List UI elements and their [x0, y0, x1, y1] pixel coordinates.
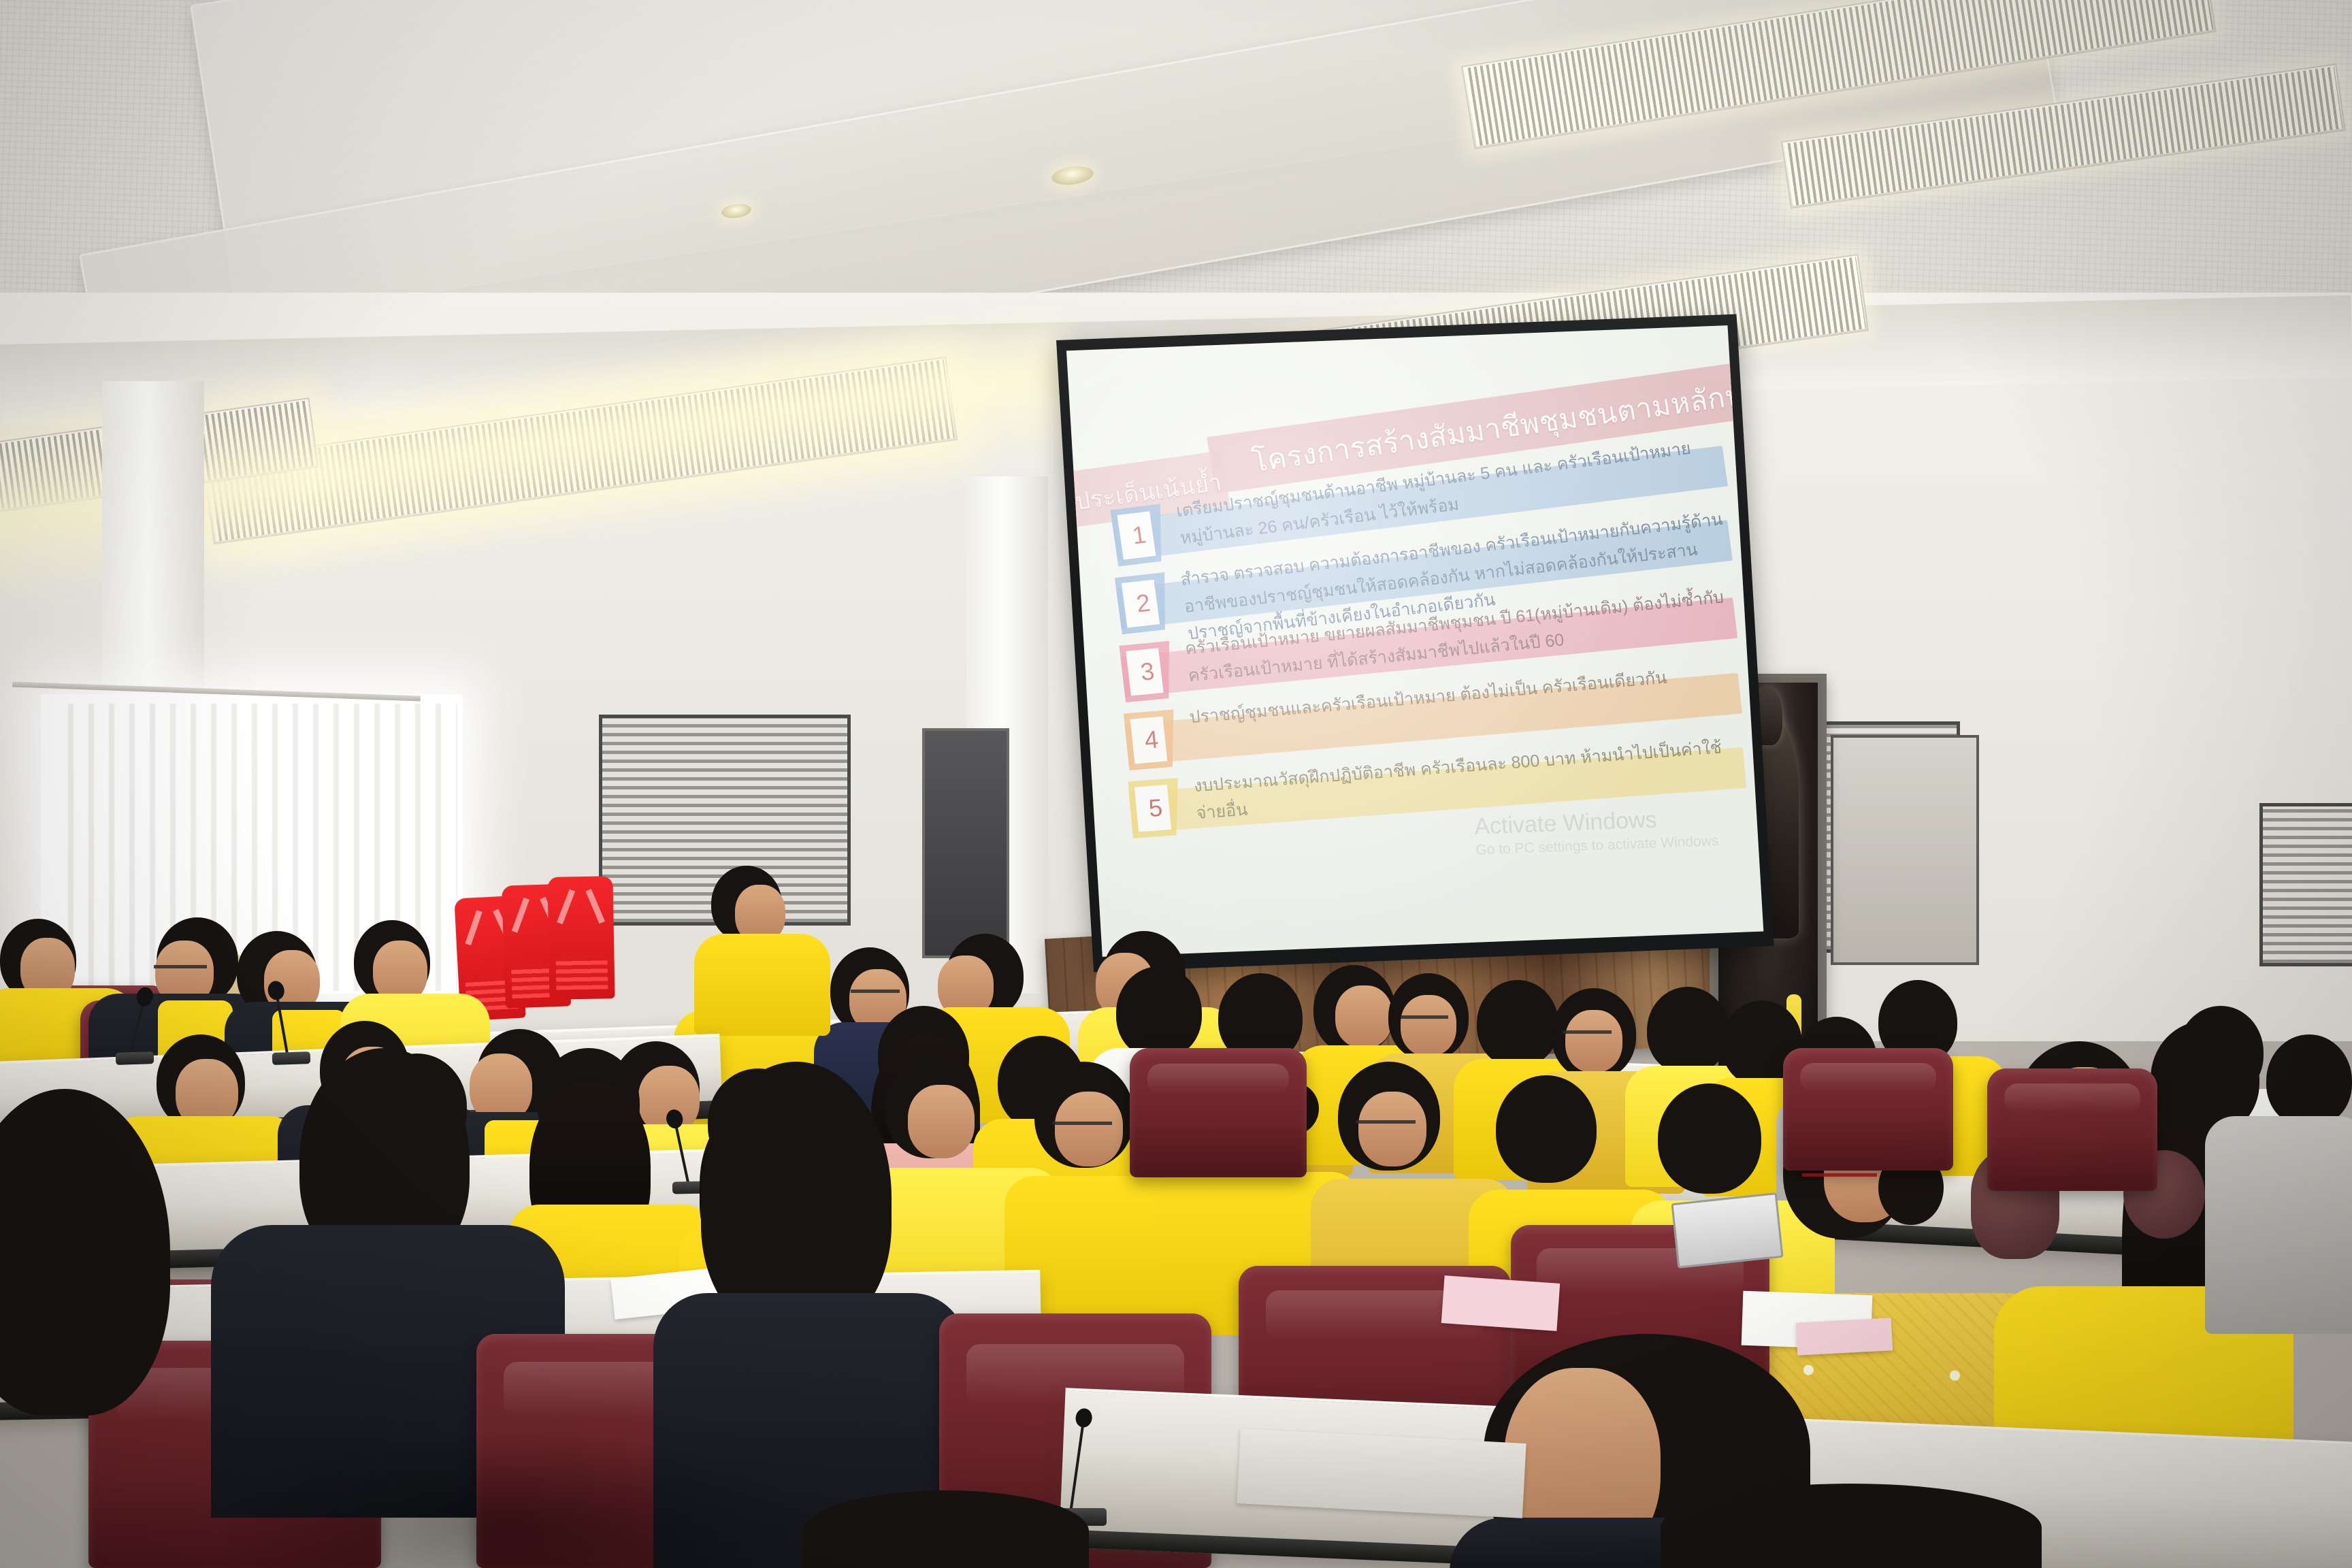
- projection-screen: ประเด็นเน้นย้ำ โครงการสร้างสัมมาชีพชุมชน…: [1056, 314, 1774, 973]
- windows-activation-watermark: Activate Windows Go to PC settings to ac…: [1473, 804, 1719, 861]
- slide-bullet-list: 1 เตรียมปราชญ์ชุมชนด้านอาชีพ หมู่บ้านละ …: [1113, 486, 1759, 849]
- conference-room-photo: ประเด็นเน้นย้ำ โครงการสร้างสัมมาชีพชุมชน…: [0, 0, 2352, 1568]
- attendee-head: [1647, 987, 1729, 1074]
- conference-chair: [1783, 1048, 1953, 1171]
- eyeglasses-icon: [1401, 1015, 1448, 1026]
- microphone-base: [116, 1051, 154, 1065]
- slide-item-number-badge: 4: [1124, 709, 1179, 770]
- pink-document: [1441, 1275, 1560, 1331]
- eyeglasses-icon: [1802, 1173, 1877, 1183]
- eyeglasses-icon: [1356, 1120, 1416, 1130]
- eyeglasses-icon: [851, 990, 900, 1000]
- conference-chair: [1130, 1048, 1307, 1177]
- conference-chair: [1987, 1068, 2157, 1191]
- wall-cabinet: [1831, 735, 1979, 965]
- attendee-head: [1496, 1075, 1597, 1183]
- attendee-head: [2266, 1034, 2352, 1127]
- projected-slide: ประเด็นเน้นย้ำ โครงการสร้างสัมมาชีพชุมชน…: [1066, 325, 1763, 957]
- eyeglasses-icon: [1052, 1122, 1112, 1132]
- attendee-head: [1661, 1484, 2042, 1568]
- attendee-face: [1565, 1010, 1622, 1073]
- attendee-head: [1658, 1083, 1761, 1194]
- paper-stack: [1237, 1428, 1526, 1518]
- wall-louvre-panel: [2259, 803, 2352, 966]
- eyeglasses-icon: [154, 965, 207, 975]
- attendee-face: [1401, 995, 1456, 1056]
- attendee-head: [803, 1490, 1089, 1568]
- slide-item-number: 4: [1143, 725, 1160, 755]
- slide-item-number-badge: 3: [1119, 641, 1175, 703]
- slide-item-number-badge: 1: [1110, 504, 1168, 566]
- slide-item-number-badge: 2: [1115, 572, 1173, 635]
- slide-item-number-badge: 5: [1128, 778, 1183, 838]
- screen-frame: ประเด็นเน้นย้ำ โครงการสร้างสัมมาชีพชุมชน…: [1056, 314, 1774, 973]
- attendee-body: [2205, 1116, 2352, 1334]
- slide-item-number: 2: [1134, 589, 1151, 619]
- pink-document: [1796, 1318, 1893, 1355]
- attendee-face: [1335, 985, 1392, 1048]
- slide-item-number: 3: [1139, 657, 1156, 687]
- slide-item-number: 5: [1147, 794, 1164, 823]
- eyeglasses-icon: [1563, 1030, 1612, 1041]
- microphone-base: [272, 1051, 311, 1065]
- slide-item-number: 1: [1130, 520, 1148, 550]
- room-door[interactable]: [922, 728, 1009, 958]
- attendee-head: [1116, 966, 1202, 1059]
- attendee-face: [908, 1085, 975, 1158]
- attendee-body: [694, 934, 830, 1036]
- attendee-head: [1477, 980, 1558, 1067]
- laptop-device[interactable]: [1671, 1192, 1783, 1269]
